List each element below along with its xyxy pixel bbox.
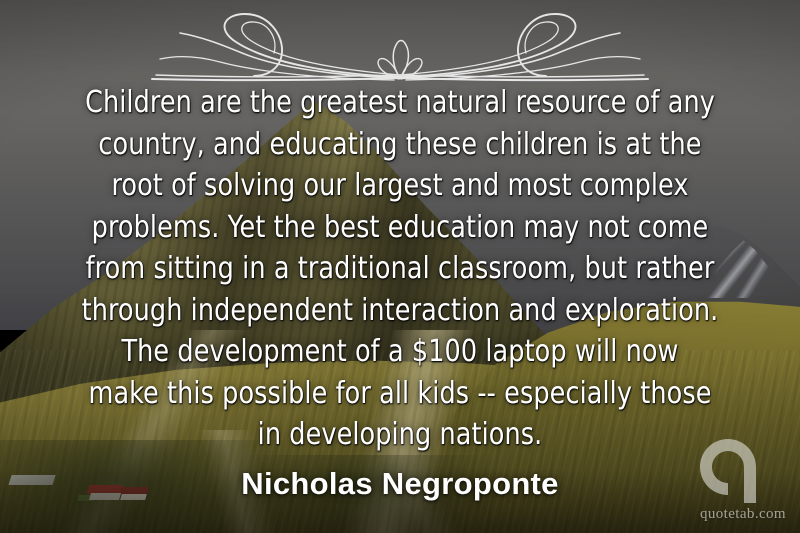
quote-image-card: Children are the greatest natural resour… <box>0 0 800 533</box>
watermark[interactable]: quotetab.com <box>674 439 786 525</box>
quotetab-logo-icon <box>700 439 762 503</box>
quote-text: Children are the greatest natural resour… <box>61 82 738 456</box>
watermark-label: quotetab.com <box>674 506 786 523</box>
scroll-flourish-icon <box>150 2 650 86</box>
